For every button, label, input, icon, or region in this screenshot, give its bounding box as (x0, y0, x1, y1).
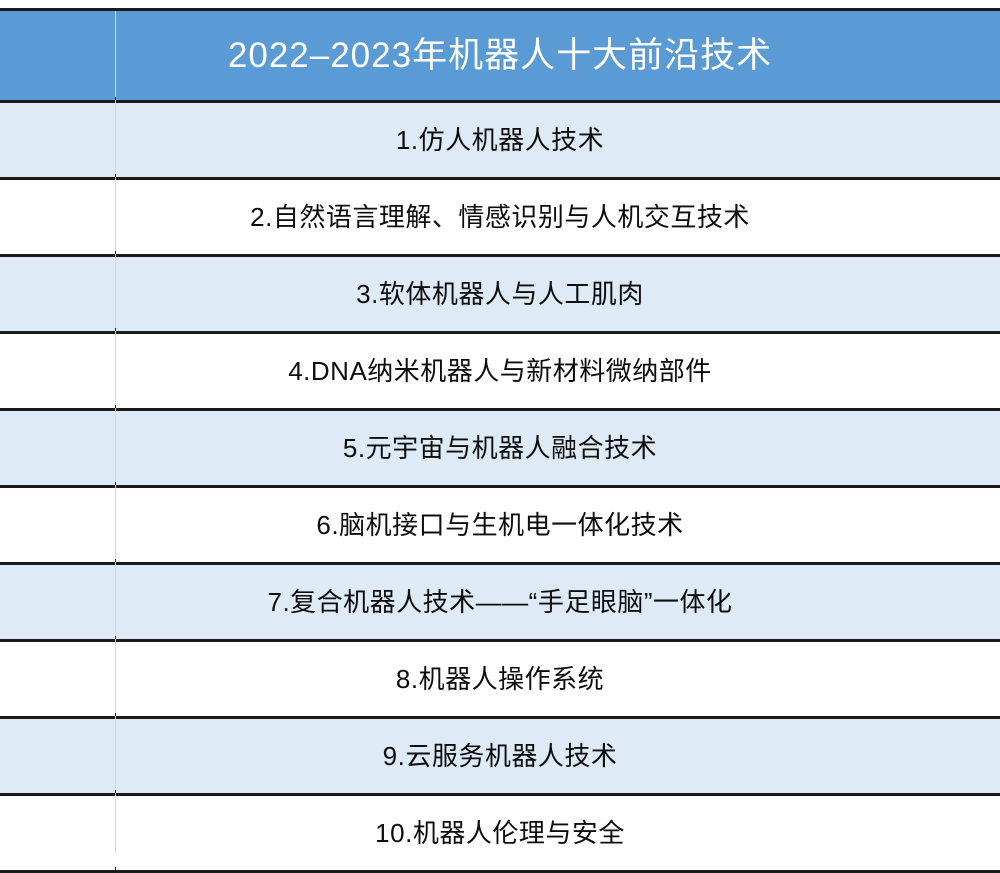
column-divider-mask (115, 636, 116, 639)
table-body: 1.仿人机器人技术 2.自然语言理解、情感识别与人机交互技术 3.软体机器人与人… (0, 102, 1000, 872)
table-row[interactable]: 8.机器人操作系统 (0, 641, 1000, 718)
table-row[interactable]: 3.软体机器人与人工肌肉 (0, 256, 1000, 333)
column-divider-mask (115, 713, 116, 716)
column-divider-mask (115, 790, 116, 793)
column-divider-mask (115, 251, 116, 254)
column-divider-mask (115, 867, 116, 870)
column-divider-mask (115, 482, 116, 485)
column-divider-mask (115, 405, 116, 408)
tech-ranking-table-wrapper: 2022–2023年机器人十大前沿技术 1.仿人机器人技术 2.自然语言理解、情… (0, 8, 1000, 873)
table-row-label-7: 7.复合机器人技术——“手足眼脑”一体化 (0, 564, 1000, 641)
table-row[interactable]: 7.复合机器人技术——“手足眼脑”一体化 (0, 564, 1000, 641)
table-row-label-8: 8.机器人操作系统 (0, 641, 1000, 718)
table-row[interactable]: 4.DNA纳米机器人与新材料微纳部件 (0, 333, 1000, 410)
column-divider-mask (115, 328, 116, 331)
column-divider-mask (115, 559, 116, 562)
table-row-label-6: 6.脑机接口与生机电一体化技术 (0, 487, 1000, 564)
table-row[interactable]: 1.仿人机器人技术 (0, 102, 1000, 179)
table-row-label-3: 3.软体机器人与人工肌肉 (0, 256, 1000, 333)
table-row-label-4: 4.DNA纳米机器人与新材料微纳部件 (0, 333, 1000, 410)
column-divider-mask (115, 8, 116, 11)
table-title: 2022–2023年机器人十大前沿技术 (0, 10, 1000, 102)
table-header-row: 2022–2023年机器人十大前沿技术 (0, 10, 1000, 102)
column-divider-mask (115, 174, 116, 177)
column-divider-mask (115, 97, 116, 100)
table-row[interactable]: 5.元宇宙与机器人融合技术 (0, 410, 1000, 487)
page-root: 2022–2023年机器人十大前沿技术 1.仿人机器人技术 2.自然语言理解、情… (0, 0, 1000, 860)
table-row-label-9: 9.云服务机器人技术 (0, 718, 1000, 795)
table-row-label-2: 2.自然语言理解、情感识别与人机交互技术 (0, 179, 1000, 256)
table-row-label-5: 5.元宇宙与机器人融合技术 (0, 410, 1000, 487)
table-row[interactable]: 2.自然语言理解、情感识别与人机交互技术 (0, 179, 1000, 256)
table-row[interactable]: 9.云服务机器人技术 (0, 718, 1000, 795)
table-header: 2022–2023年机器人十大前沿技术 (0, 10, 1000, 102)
table-row-label-1: 1.仿人机器人技术 (0, 102, 1000, 179)
tech-ranking-table: 2022–2023年机器人十大前沿技术 1.仿人机器人技术 2.自然语言理解、情… (0, 8, 1000, 873)
table-row[interactable]: 6.脑机接口与生机电一体化技术 (0, 487, 1000, 564)
